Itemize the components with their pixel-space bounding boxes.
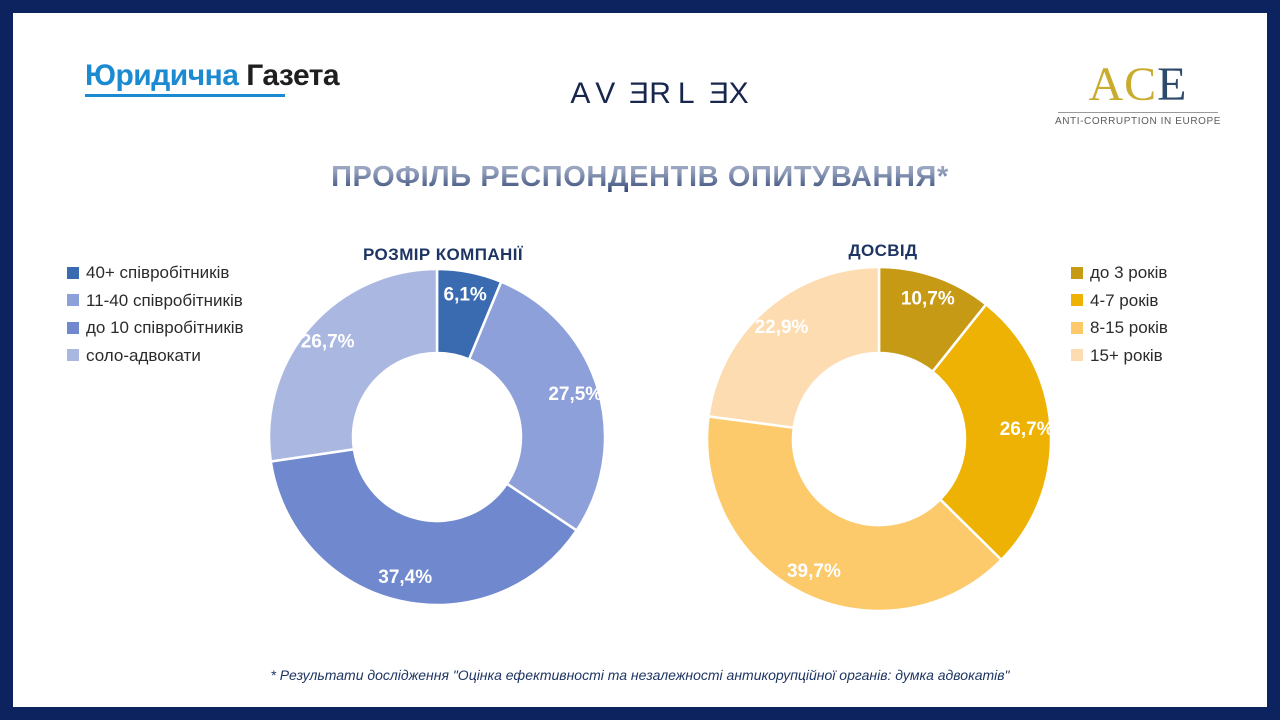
logo-averlex: AVERLEX bbox=[553, 77, 773, 111]
logo-ace-subtitle: ANTI-CORRUPTION IN EUROPE bbox=[1053, 116, 1223, 127]
logo-yg-part1: Юридична bbox=[85, 59, 238, 92]
donut-chart-company-size: 6,1%27,5%37,4%26,7% bbox=[263, 263, 611, 611]
legend-swatch-icon bbox=[1071, 322, 1083, 334]
legend-item-label: 8-15 років bbox=[1090, 314, 1168, 342]
donut-slice-label: 27,5% bbox=[548, 384, 602, 405]
logo-ace-divider bbox=[1058, 112, 1218, 113]
legend-experience: до 3 років 4-7 років 8-15 років 15+ рокі… bbox=[1071, 259, 1168, 369]
logo-averlex-e1: E bbox=[622, 77, 649, 111]
legend-swatch-icon bbox=[1071, 294, 1083, 306]
donut-slice-label: 10,7% bbox=[901, 288, 955, 309]
chart-title-company-size: РОЗМІР КОМПАНІЇ bbox=[303, 245, 583, 265]
legend-item-label: соло-адвокати bbox=[86, 342, 201, 370]
donut-slice[interactable] bbox=[708, 267, 879, 428]
legend-item-label: до 10 співробітників bbox=[86, 314, 244, 342]
logo-ace-letter-c: C bbox=[1124, 58, 1157, 111]
legend-item-label: 4-7 років bbox=[1090, 287, 1158, 315]
legend-swatch-icon bbox=[1071, 267, 1083, 279]
legend-item[interactable]: 8-15 років bbox=[1071, 314, 1168, 342]
legend-item-label: 11-40 співробітників bbox=[86, 287, 243, 315]
legend-item[interactable]: 15+ років bbox=[1071, 342, 1168, 370]
donut-svg: 10,7%26,7%39,7%22,9% bbox=[701, 261, 1057, 617]
logo-ace-letters: ACE bbox=[1053, 61, 1223, 109]
legend-item[interactable]: 40+ співробітників bbox=[67, 259, 244, 287]
legend-item[interactable]: соло-адвокати bbox=[67, 342, 244, 370]
donut-slice-label: 6,1% bbox=[444, 284, 487, 305]
logo-averlex-l: L bbox=[678, 77, 702, 110]
page-title: ПРОФІЛЬ РЕСПОНДЕНТІВ ОПИТУВАННЯ* bbox=[13, 161, 1267, 194]
legend-item[interactable]: до 10 співробітників bbox=[67, 314, 244, 342]
legend-swatch-icon bbox=[67, 349, 79, 361]
legend-item-label: 40+ співробітників bbox=[86, 259, 229, 287]
donut-slice-label: 26,7% bbox=[1000, 419, 1054, 440]
legend-swatch-icon bbox=[67, 294, 79, 306]
logo-ace-letter-a: A bbox=[1088, 58, 1124, 111]
slide-canvas: Юридична Газета AVERLEX ACE ANTI-CORRUPT… bbox=[0, 0, 1280, 720]
logo-row: Юридична Газета AVERLEX ACE ANTI-CORRUPT… bbox=[13, 13, 1267, 133]
legend-item[interactable]: 4-7 років bbox=[1071, 287, 1168, 315]
logo-yg-underline bbox=[85, 94, 285, 97]
donut-slice[interactable] bbox=[469, 282, 605, 531]
logo-averlex-x: X bbox=[729, 77, 756, 110]
donut-slice-label: 37,4% bbox=[378, 567, 432, 588]
legend-company-size: 40+ співробітників 11-40 співробітників … bbox=[67, 259, 244, 369]
legend-item-label: 15+ років bbox=[1090, 342, 1163, 370]
logo-averlex-a: A bbox=[570, 77, 595, 110]
footnote: * Результати дослідження "Оцінка ефектив… bbox=[13, 667, 1267, 683]
logo-yg-part2: Газета bbox=[246, 59, 339, 92]
donut-slice-label: 39,7% bbox=[787, 561, 841, 582]
logo-ace-letter-e: E bbox=[1157, 58, 1187, 111]
donut-svg: 6,1%27,5%37,4%26,7% bbox=[263, 263, 611, 611]
legend-swatch-icon bbox=[67, 267, 79, 279]
chart-title-experience: ДОСВІД bbox=[743, 241, 1023, 261]
logo-yuridichna-gazeta-text: Юридична Газета bbox=[85, 61, 305, 91]
legend-item-label: до 3 років bbox=[1090, 259, 1167, 287]
logo-ace: ACE ANTI-CORRUPTION IN EUROPE bbox=[1053, 61, 1223, 127]
donut-slice[interactable] bbox=[269, 269, 437, 461]
legend-item[interactable]: 11-40 співробітників bbox=[67, 287, 244, 315]
logo-yuridichna-gazeta: Юридична Газета bbox=[85, 61, 305, 97]
logo-averlex-e2: E bbox=[702, 77, 729, 111]
legend-swatch-icon bbox=[67, 322, 79, 334]
legend-item[interactable]: до 3 років bbox=[1071, 259, 1168, 287]
logo-averlex-r: R bbox=[649, 77, 678, 110]
donut-slice-label: 22,9% bbox=[755, 317, 809, 338]
donut-slice-label: 26,7% bbox=[301, 332, 355, 353]
logo-averlex-v: V bbox=[595, 77, 622, 110]
legend-swatch-icon bbox=[1071, 349, 1083, 361]
donut-chart-experience: 10,7%26,7%39,7%22,9% bbox=[701, 261, 1057, 617]
